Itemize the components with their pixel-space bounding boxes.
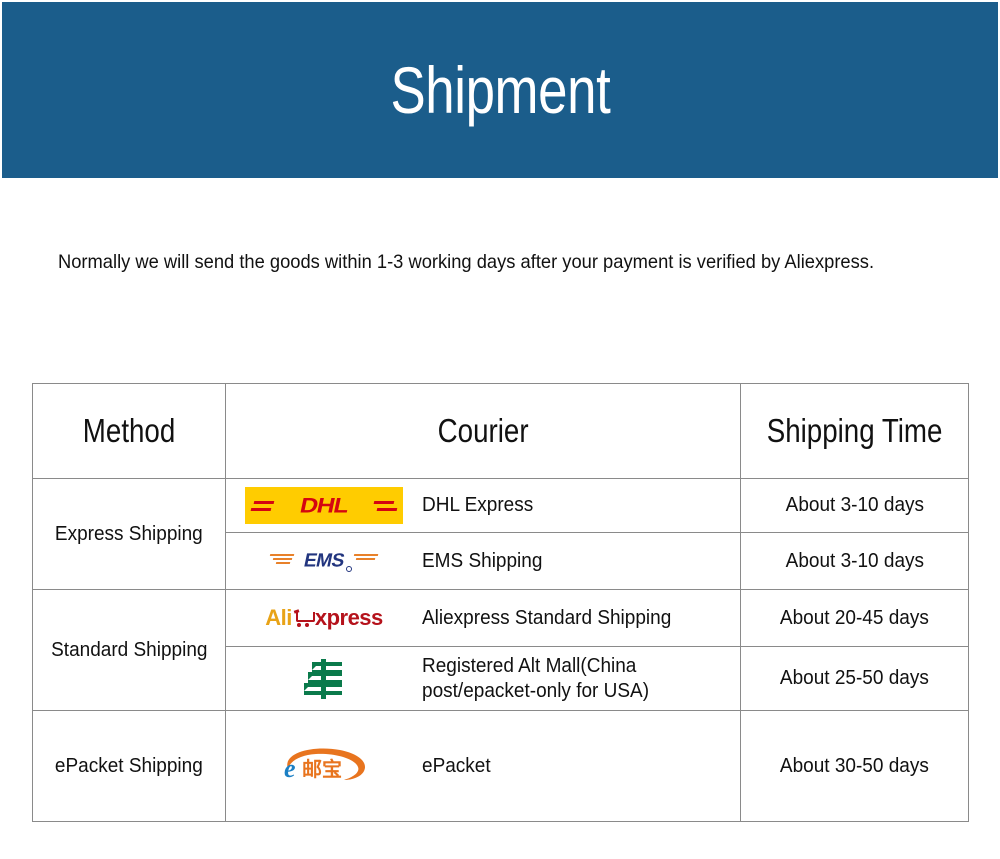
shipping-time-value: About 25-50 days (780, 667, 929, 690)
courier-name-ems: EMS Shipping (422, 549, 542, 574)
aliexpress-logo: Ali xpress (265, 603, 383, 633)
shipping-time-cell: About 20-45 days (741, 590, 969, 647)
dhl-dash-icon (374, 501, 395, 504)
logo-slot: DHL (226, 487, 422, 524)
ems-logo-text: EMS (302, 552, 346, 571)
courier-cell-aliexpress: Ali xpress Aliexpress Standard Shipping (226, 590, 741, 647)
ems-stripe-icon (270, 554, 295, 556)
logo-slot (226, 656, 422, 702)
ems-logo: EMS (268, 545, 380, 577)
courier-name-dhl: DHL Express (422, 493, 533, 518)
table-row: ePacket Shipping e 邮宝 ePacket About 30-5… (33, 711, 969, 822)
method-cell-epacket-shipping: ePacket Shipping (33, 711, 226, 822)
shipping-time-value: About 30-50 days (780, 755, 929, 778)
aliexpress-logo-text-xpress: xpress (315, 607, 383, 629)
table-row: Express Shipping DHL DHL Express (33, 479, 969, 533)
column-header-method: Method (33, 384, 226, 479)
china-post-logo (298, 656, 350, 702)
shipping-time-cell: About 3-10 days (741, 479, 969, 533)
column-header-method-label: Method (83, 412, 175, 450)
ems-stripe-icon (354, 554, 379, 556)
column-header-shipping-time-label: Shipping Time (767, 412, 943, 450)
courier-name-epacket: ePacket (422, 754, 491, 779)
table-row: Standard Shipping Ali xpres (33, 590, 969, 647)
method-label-express-shipping: Express Shipping (55, 523, 203, 546)
logo-slot: EMS (226, 545, 422, 577)
courier-cell-epacket: e 邮宝 ePacket (226, 711, 741, 822)
svg-text:邮宝: 邮宝 (302, 757, 342, 781)
method-cell-standard-shipping: Standard Shipping (33, 590, 226, 711)
column-header-shipping-time: Shipping Time (741, 384, 969, 479)
courier-name-aliexpress: Aliexpress Standard Shipping (422, 606, 671, 631)
dhl-dash-icon (254, 501, 275, 504)
shipping-time-cell: About 3-10 days (741, 533, 969, 590)
ems-stripe-icon (356, 558, 376, 560)
dhl-logo: DHL (245, 487, 403, 524)
method-label-epacket-shipping: ePacket Shipping (55, 755, 203, 778)
dhl-dash-icon (377, 508, 398, 511)
shipping-methods-table: Method Courier Shipping Time Express Shi… (32, 383, 969, 822)
ems-dot-icon (346, 566, 352, 572)
shopping-cart-icon (294, 609, 314, 628)
courier-cell-ems: EMS EMS Shipping (226, 533, 741, 590)
logo-slot: e 邮宝 (226, 743, 422, 789)
courier-cell-dhl: DHL DHL Express (226, 479, 741, 533)
svg-text:e: e (284, 754, 296, 783)
page-header-banner: Shipment (2, 2, 998, 178)
method-cell-express-shipping: Express Shipping (33, 479, 226, 590)
column-header-courier-label: Courier (438, 412, 529, 450)
dhl-logo-text: DHL (298, 495, 350, 516)
courier-cell-china-post: Registered Alt Mall(China post/epacket-o… (226, 647, 741, 711)
page-title: Shipment (390, 57, 610, 123)
shipping-time-value: About 20-45 days (780, 607, 929, 630)
epacket-logo: e 邮宝 (272, 743, 376, 789)
shipping-time-cell: About 25-50 days (741, 647, 969, 711)
ems-stripe-icon (273, 558, 293, 560)
dhl-dash-icon (251, 508, 272, 511)
ems-stripe-icon (276, 562, 291, 564)
aliexpress-logo-text-ali: Ali (265, 607, 292, 629)
shipping-time-value: About 3-10 days (785, 494, 923, 517)
courier-name-china-post: Registered Alt Mall(China post/epacket-o… (422, 654, 649, 704)
shipping-time-cell: About 30-50 days (741, 711, 969, 822)
shipping-time-value: About 3-10 days (785, 550, 923, 573)
intro-paragraph: Normally we will send the goods within 1… (58, 232, 904, 292)
column-header-courier: Courier (226, 384, 741, 479)
table-header-row: Method Courier Shipping Time (33, 384, 969, 479)
logo-slot: Ali xpress (226, 603, 422, 633)
method-label-standard-shipping: Standard Shipping (51, 639, 207, 662)
